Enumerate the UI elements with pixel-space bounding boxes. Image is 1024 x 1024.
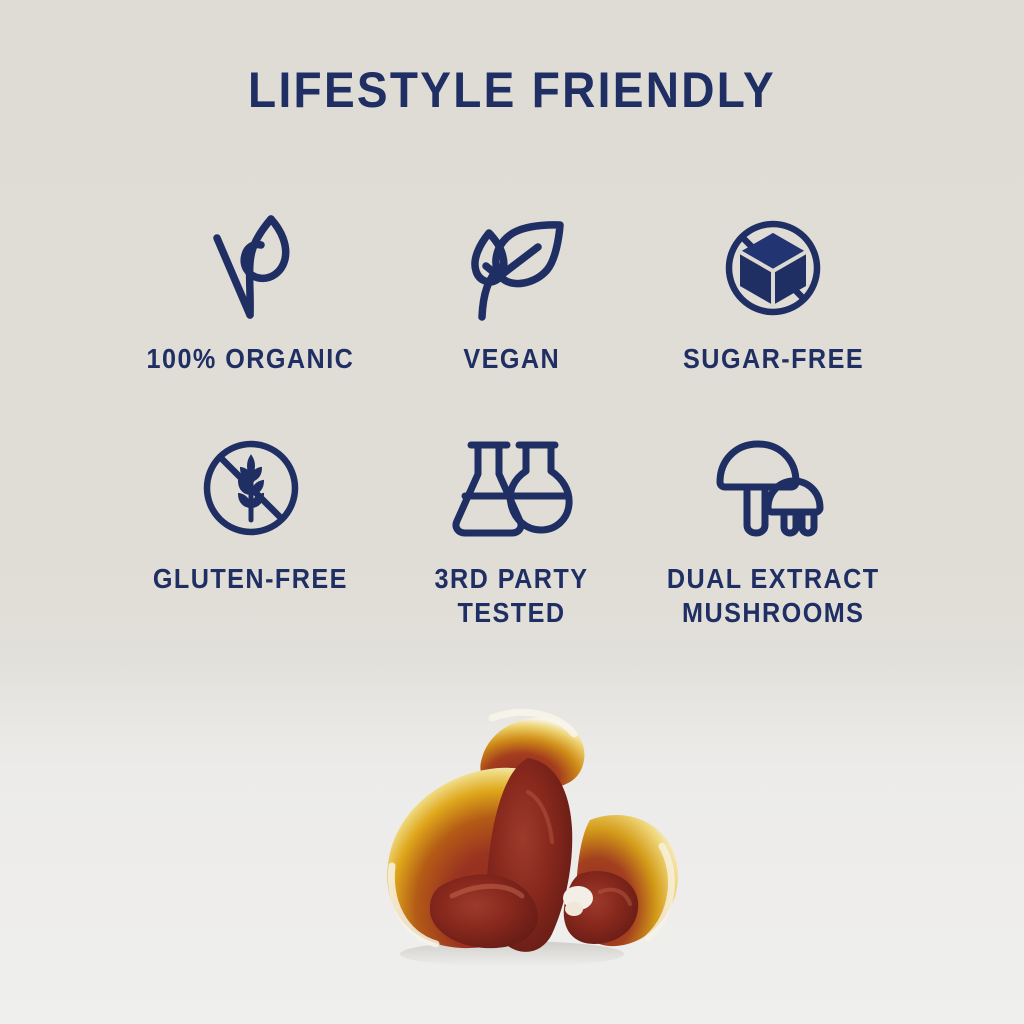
badge-gluten-free: GLUTEN-FREE <box>120 434 381 630</box>
badge-label: DUAL EXTRACT MUSHROOMS <box>667 562 880 630</box>
badge-organic: 100% ORGANIC <box>120 214 381 376</box>
badge-label: SUGAR-FREE <box>683 342 864 376</box>
two-leaves-icon <box>456 214 568 322</box>
badge-third-party-tested: 3RD PARTY TESTED <box>381 434 642 630</box>
badge-label: VEGAN <box>464 342 561 376</box>
no-sugar-cube-icon <box>719 214 827 322</box>
lab-flasks-icon <box>449 434 575 542</box>
leaf-sprout-icon <box>201 214 301 322</box>
no-wheat-icon <box>197 434 305 542</box>
mushrooms-icon <box>714 434 832 542</box>
badge-vegan: VEGAN <box>381 214 642 376</box>
product-photo <box>0 660 1024 1024</box>
badge-label: 100% ORGANIC <box>147 342 355 376</box>
badge-label: GLUTEN-FREE <box>153 562 348 596</box>
badge-dual-extract-mushrooms: DUAL EXTRACT MUSHROOMS <box>643 434 904 630</box>
page-title: LIFESTYLE FRIENDLY <box>41 62 983 118</box>
badge-sugar-free: SUGAR-FREE <box>643 214 904 376</box>
badge-label: 3RD PARTY TESTED <box>435 562 589 630</box>
reishi-mushroom-cluster-image <box>332 696 692 986</box>
lifestyle-friendly-infographic: LIFESTYLE FRIENDLY 100% ORGANIC <box>0 0 1024 1024</box>
badge-grid: 100% ORGANIC VEGAN <box>120 214 904 630</box>
